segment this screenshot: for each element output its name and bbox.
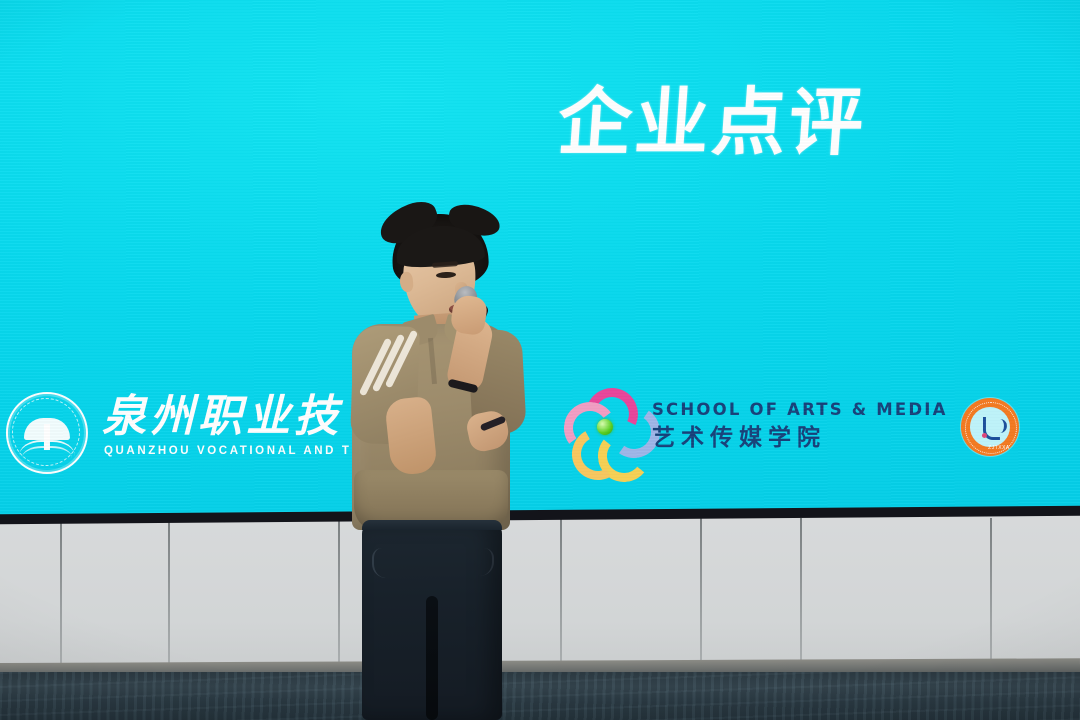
speaker-figure xyxy=(0,0,1080,720)
speaker-ear xyxy=(399,271,414,292)
speaker-waistband xyxy=(362,520,502,530)
speaker-leg-separation xyxy=(426,596,438,720)
speaker-pocket-left xyxy=(372,548,400,578)
presentation-photo: 企业点评 泉州职业技 QUANZHOU VOCATIONAL AND TECHN… xyxy=(0,0,1080,720)
